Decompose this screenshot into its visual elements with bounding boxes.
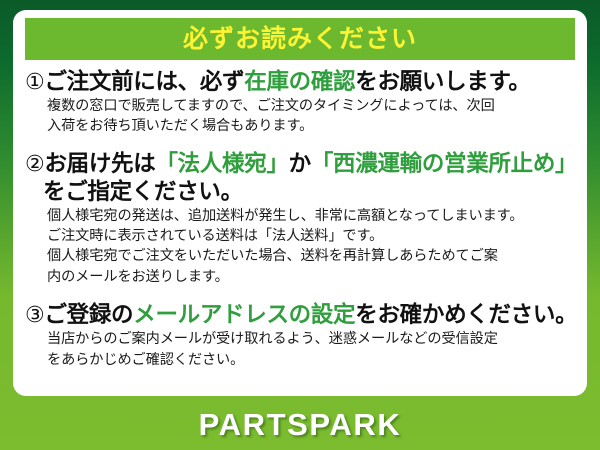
item-2-description: 個人様宅宛の発送は、追加送料が発生し、非常に高額となってしまいます。 ご注文時に… (25, 206, 577, 288)
item-2-sub-line-3: 個人様宅宛でご注文をいただいた場合、送料を再計算しあらためてご案 (47, 246, 577, 266)
item-1-description: 複数の窓口で販売してますので、ご注文のタイミングによっては、次回 入荷をお待ち頂… (25, 96, 577, 137)
item-3-sub-line-1: 当店からのご案内メールが受け取れるよう、迷惑メールなどの受信設定 (47, 329, 577, 349)
footer: PARTSPARK (0, 398, 600, 450)
item-2-head-part-1: お届け先は (44, 151, 155, 176)
item-2-head-part-3: か (289, 151, 311, 176)
brand-logo-text: PARTSPARK (199, 409, 402, 440)
item-2-sub-line-1: 個人様宅宛の発送は、追加送料が発生し、非常に高額となってしまいます。 (47, 206, 577, 226)
item-3-head-part-3: をお確かめください。 (355, 302, 577, 327)
header-bar: 必ずお読みください (25, 18, 575, 60)
item-1-head-part-1: ご注文前には、必ず (44, 69, 244, 94)
item-1-highlight: 在庫の確認 (244, 69, 355, 94)
item-2-sub-line-2: ご注文時に表示されている送料は「法人送料」です。 (47, 226, 577, 246)
notice-card: 必ずお読みください ①ご注文前には、必ず在庫の確認をお願いします。 複数の窓口で… (13, 10, 587, 396)
item-1-sub-line-2: 入荷をお待ち頂いただく場合もあります。 (47, 116, 577, 136)
item-3-highlight: メールアドレスの設定 (133, 302, 355, 327)
item-3-heading: ③ご登録のメールアドレスの設定をお確かめください。 (25, 301, 577, 329)
item-3-number: ③ (25, 302, 44, 327)
item-3-head-part-1: ご登録の (44, 302, 133, 327)
item-3-sub-line-2: をあらかじめご確認ください。 (47, 350, 577, 370)
item-1-sub-line-1: 複数の窓口で販売してますので、ご注文のタイミングによっては、次回 (47, 96, 577, 116)
item-2-number: ② (25, 151, 44, 176)
item-2-highlight-1: 「法人様宛」 (155, 151, 288, 176)
notice-items-list: ①ご注文前には、必ず在庫の確認をお願いします。 複数の窓口で販売してますので、ご… (25, 68, 577, 372)
item-2-heading-line2: をご指定ください。 (25, 178, 577, 206)
item-2-sub-line-4: 内のメールをお送りします。 (47, 267, 577, 287)
item-2-heading: ②お届け先は「法人様宛」か「西濃運輸の営業所止め」 (25, 150, 577, 178)
page-title: 必ずお読みください (183, 27, 417, 52)
list-item: ①ご注文前には、必ず在庫の確認をお願いします。 複数の窓口で販売してますので、ご… (25, 68, 577, 137)
list-item: ②お届け先は「法人様宛」か「西濃運輸の営業所止め」 をご指定ください。 個人様宅… (25, 150, 577, 288)
notice-banner: 必ずお読みください ①ご注文前には、必ず在庫の確認をお願いします。 複数の窓口で… (0, 0, 600, 450)
item-3-description: 当店からのご案内メールが受け取れるよう、迷惑メールなどの受信設定 をあらかじめご… (25, 329, 577, 370)
item-2-highlight-2: 「西濃運輸の営業所止め」 (311, 151, 577, 176)
item-1-head-part-3: をお願いします。 (355, 69, 530, 94)
item-1-number: ① (25, 69, 44, 94)
item-1-heading: ①ご注文前には、必ず在庫の確認をお願いします。 (25, 68, 577, 96)
list-item: ③ご登録のメールアドレスの設定をお確かめください。 当店からのご案内メールが受け… (25, 301, 577, 370)
